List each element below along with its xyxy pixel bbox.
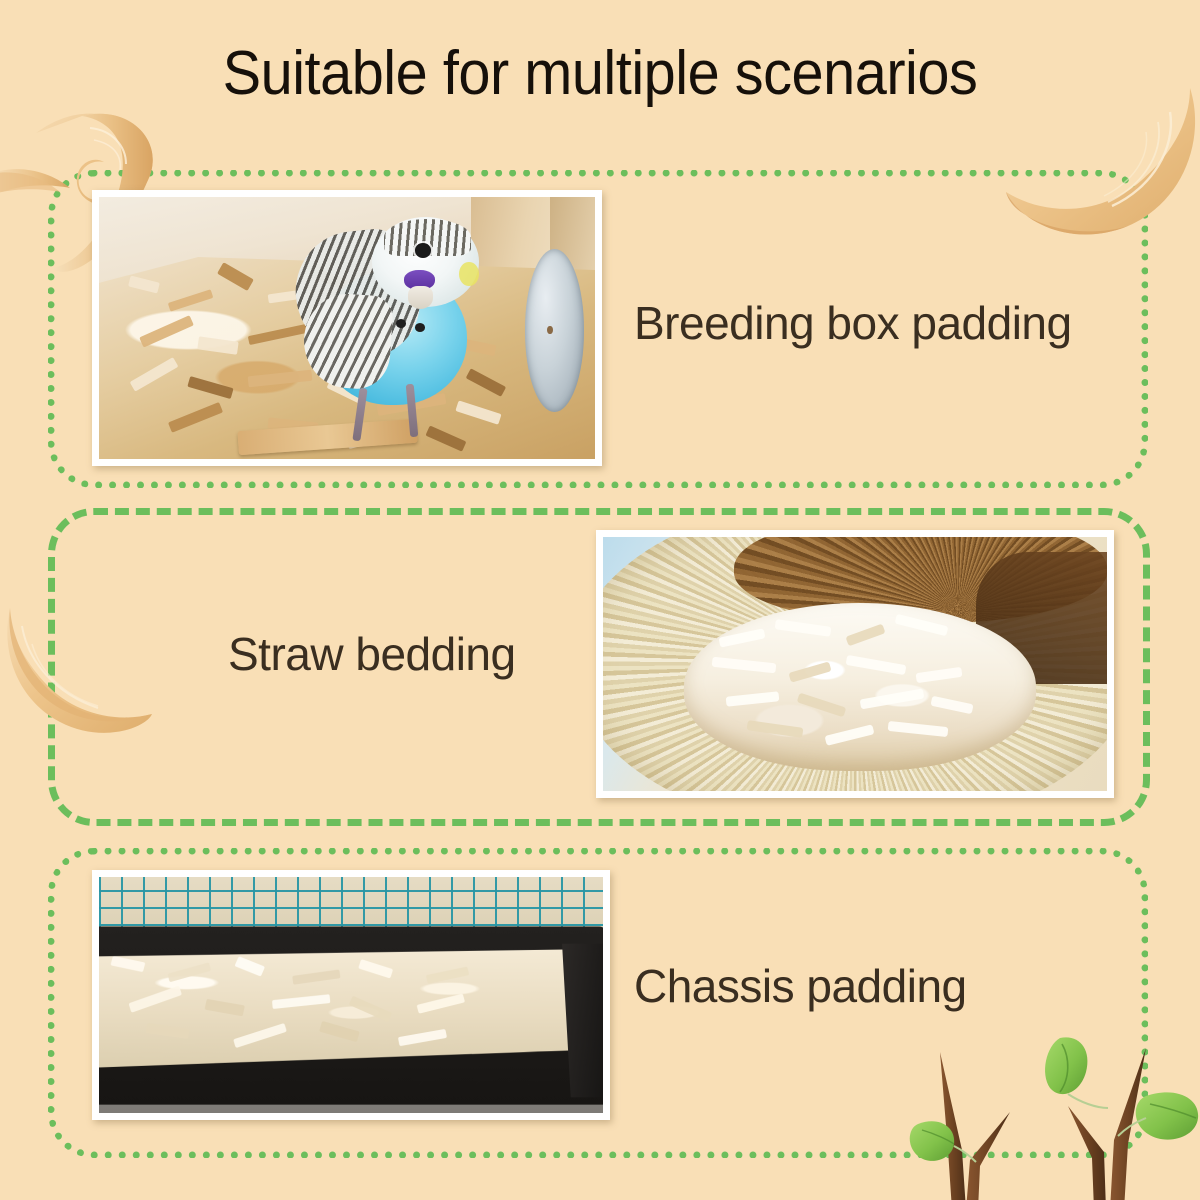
card-straw-bedding-label: Straw bedding (228, 627, 516, 681)
image-breeding-box (92, 190, 602, 466)
budgerigar (292, 213, 490, 417)
plastic-tray (99, 927, 603, 1105)
card-chassis-padding-label: Chassis padding (634, 959, 967, 1013)
card-breeding-box-label: Breeding box padding (634, 296, 1072, 350)
metal-disc (525, 249, 585, 411)
wood-shavings-in-tray (99, 947, 574, 1068)
image-straw-nest (596, 530, 1114, 798)
page-title: Suitable for multiple scenarios (42, 38, 1158, 110)
image-chassis-tray (92, 870, 610, 1120)
infographic-canvas: Suitable for multiple scenarios (0, 0, 1200, 1200)
wood-shavings-in-nest (684, 603, 1037, 771)
